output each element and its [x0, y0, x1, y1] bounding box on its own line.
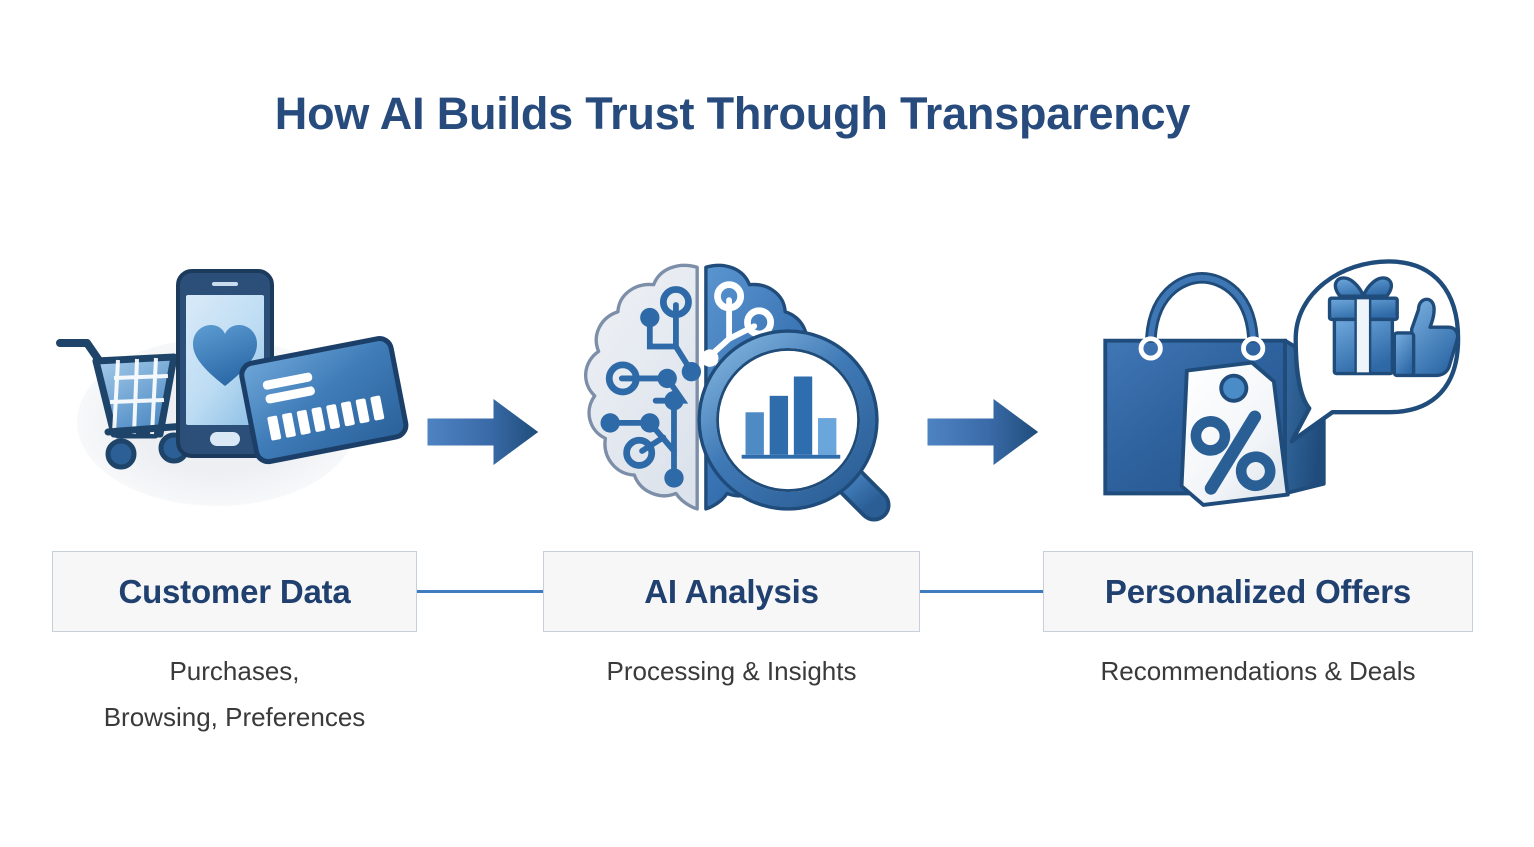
- personalized-offers-illustration: [1043, 244, 1473, 534]
- gift-ribbon: [1356, 298, 1371, 373]
- stage-label-personalized-offers: Personalized Offers: [1105, 573, 1411, 611]
- stage-box-customer-data[interactable]: Customer Data: [52, 551, 417, 632]
- tag-hole: [1220, 374, 1248, 402]
- process-flow-diagram: Customer Data Purchases, Browsing, Prefe…: [0, 0, 1534, 847]
- caption-line: Processing & Insights: [523, 648, 940, 694]
- brain-left-hemisphere: [586, 265, 701, 509]
- flow-arrow-1: [425, 396, 541, 468]
- stage-caption-personalized-offers: Recommendations & Deals: [1035, 648, 1481, 694]
- stage-label-customer-data: Customer Data: [118, 573, 350, 611]
- caption-line: Browsing, Preferences: [28, 694, 441, 740]
- customer-data-illustration: [52, 250, 417, 540]
- arrow-right-icon: [425, 396, 541, 468]
- caption-line: Purchases,: [28, 648, 441, 694]
- connector-line-2: [920, 590, 1043, 593]
- shopping-cart-phone-credit-card-icon: [52, 250, 417, 540]
- stage-caption-customer-data: Purchases, Browsing, Preferences: [28, 648, 441, 740]
- gift-box-icon: [1330, 278, 1398, 374]
- phone-speaker: [212, 282, 238, 286]
- flow-arrow-2: [925, 396, 1041, 468]
- stage-box-ai-analysis[interactable]: AI Analysis: [543, 551, 920, 632]
- thumb-base: [1394, 333, 1413, 376]
- magnifying-glass-icon: [699, 331, 877, 509]
- arrow-right-icon: [925, 396, 1041, 468]
- stage-label-ai-analysis: AI Analysis: [644, 573, 818, 611]
- percent-discount-tag-icon: [1168, 360, 1288, 507]
- ai-analysis-illustration: [543, 246, 920, 536]
- stage-caption-ai-analysis: Processing & Insights: [523, 648, 940, 694]
- ai-brain-magnifier-icon: [543, 246, 920, 536]
- phone-home-button: [210, 432, 240, 446]
- connector-line-1: [417, 590, 543, 593]
- shopping-cart-icon: [60, 343, 187, 467]
- stage-box-personalized-offers[interactable]: Personalized Offers: [1043, 551, 1473, 632]
- cart-wheel-left: [108, 441, 134, 467]
- speech-bubble: [1292, 261, 1458, 441]
- caption-line: Recommendations & Deals: [1035, 648, 1481, 694]
- shopping-bag-discount-tag-icon: [1043, 244, 1473, 534]
